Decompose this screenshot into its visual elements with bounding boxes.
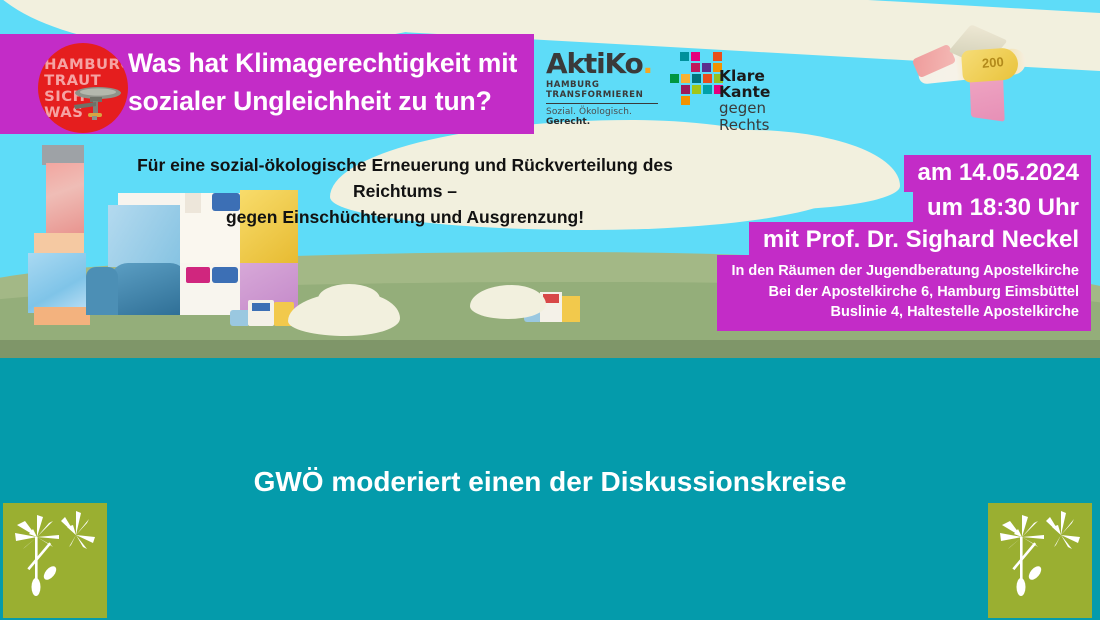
dandelion-seeds-icon-left bbox=[3, 503, 107, 618]
klare-kante-line2: gegen Rechts bbox=[719, 100, 815, 134]
bottom-headline: GWÖ moderiert einen der Diskussionskreis… bbox=[0, 466, 1100, 498]
aktiko-wordmark: AktiKo. bbox=[546, 50, 664, 78]
event-speaker-badge: mit Prof. Dr. Sighard Neckel bbox=[749, 222, 1091, 259]
klare-kante-line1: Klare Kante bbox=[719, 68, 815, 100]
venue-line-3: Buslinie 4, Haltestelle Apostelkirche bbox=[731, 302, 1079, 323]
title-line-1: Was hat Klimagerechtigkeit mit bbox=[128, 44, 528, 82]
starship-icon bbox=[66, 81, 124, 121]
venue-line-2: Bei der Apostelkirche 6, Hamburg Eimsbüt… bbox=[731, 282, 1079, 303]
subtitle-line-2: gegen Einschüchterung und Ausgrenzung! bbox=[95, 204, 715, 230]
venue-line-1: In den Räumen der Jugendberatung Apostel… bbox=[731, 261, 1079, 282]
banknote-airplane-icon: 200 bbox=[900, 25, 1080, 115]
event-date-badge: am 14.05.2024 bbox=[904, 155, 1091, 192]
title-line-2: sozialer Ungleichheit zu tun? bbox=[128, 82, 528, 120]
page-title: Was hat Klimagerechtigkeit mit sozialer … bbox=[128, 44, 528, 120]
aktiko-logo[interactable]: AktiKo. HAMBURG TRANSFORMIEREN Sozial. Ö… bbox=[546, 50, 664, 127]
aktiko-dot: . bbox=[643, 47, 652, 80]
subtitle-line-1: Für eine sozial-ökologische Erneuerung u… bbox=[95, 152, 715, 204]
smoke-puff bbox=[318, 284, 380, 314]
subtitle-text: Für eine sozial-ökologische Erneuerung u… bbox=[95, 152, 715, 230]
poster-canvas: 200 bbox=[0, 0, 1100, 620]
hamburg-traut-sich-was-logo: HAMBURG TRAUT SICH WAS bbox=[38, 43, 128, 133]
event-venue-block: In den Räumen der Jugendberatung Apostel… bbox=[717, 255, 1091, 331]
dandelion-seeds-icon-right bbox=[988, 503, 1092, 618]
klare-kante-text: Klare Kante gegen Rechts bbox=[719, 68, 815, 134]
aktiko-tagline: HAMBURG TRANSFORMIEREN bbox=[546, 80, 658, 104]
aktiko-claim: Sozial. Ökologisch. Gerecht. bbox=[546, 107, 664, 127]
klare-kante-logo[interactable]: Klare Kante gegen Rechts bbox=[670, 52, 815, 110]
